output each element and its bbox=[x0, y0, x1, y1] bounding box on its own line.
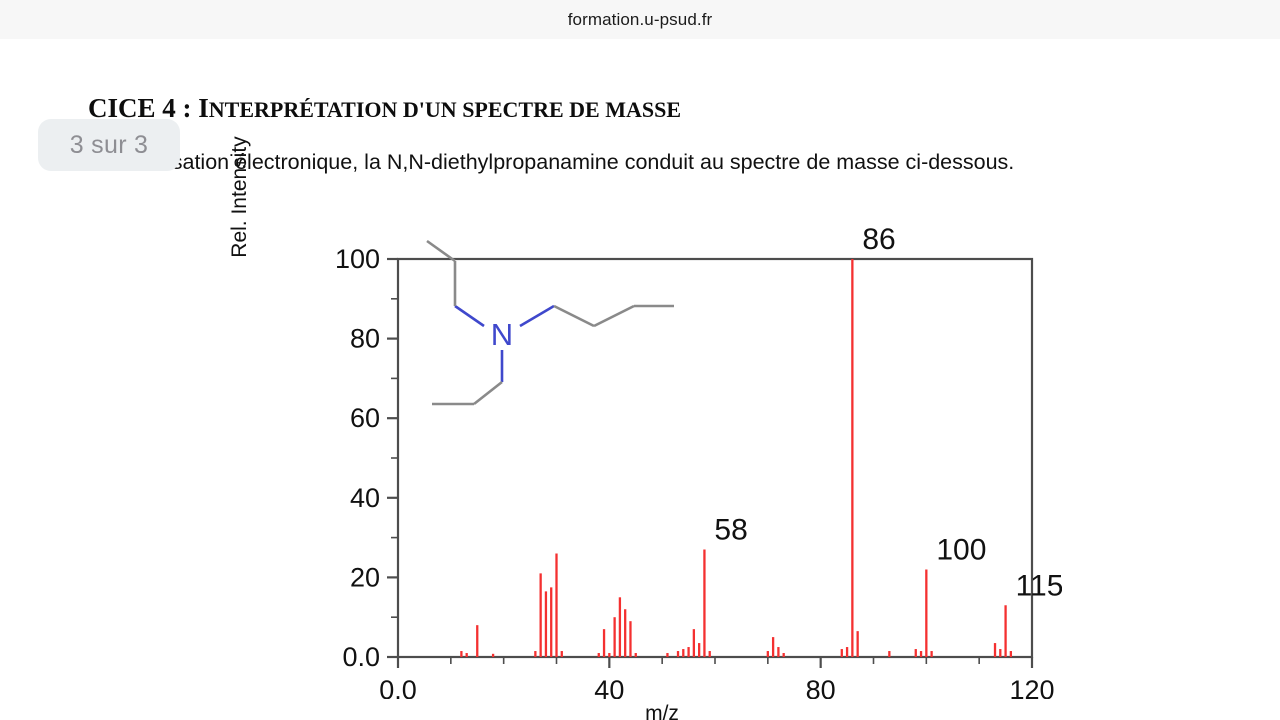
y-tick-label: 80 bbox=[350, 324, 380, 354]
peak-group bbox=[461, 259, 1010, 657]
peak-label: 100 bbox=[936, 533, 986, 566]
structure-bond bbox=[474, 382, 502, 404]
page-title-smallcaps: NTERPRÉTATION D'UN SPECTRE DE MASSE bbox=[209, 97, 681, 122]
peak-label: 115 bbox=[1016, 569, 1062, 602]
peak-label: 58 bbox=[714, 514, 747, 547]
spectrum-plot: 0.040801200.0204060801005886100115N bbox=[262, 199, 1062, 699]
y-tick-label: 40 bbox=[350, 483, 380, 513]
x-tick-label: 40 bbox=[594, 675, 624, 699]
x-axis-label: m/z bbox=[262, 702, 1062, 720]
browser-url-bar[interactable]: formation.u-psud.fr bbox=[0, 0, 1280, 40]
page-indicator-badge: 3 sur 3 bbox=[38, 119, 180, 171]
y-tick-label: 100 bbox=[335, 244, 380, 274]
intro-paragraph: En ionisation électronique, la N,N-dieth… bbox=[88, 143, 1200, 182]
page-indicator-label: 3 sur 3 bbox=[70, 131, 149, 160]
x-tick-label: 80 bbox=[806, 675, 836, 699]
peak-label: 86 bbox=[862, 223, 895, 256]
page-title: CICE 4 : INTERPRÉTATION D'UN SPECTRE DE … bbox=[88, 93, 681, 124]
structure-bond bbox=[554, 306, 594, 326]
y-tick-label: 60 bbox=[350, 403, 380, 433]
structure-bond bbox=[520, 306, 554, 326]
molecule-structure-inset: N bbox=[427, 241, 674, 404]
url-text: formation.u-psud.fr bbox=[568, 10, 713, 30]
y-tick-label: 0.0 bbox=[342, 642, 380, 672]
y-tick-label: 20 bbox=[350, 562, 380, 592]
screenshot-root: formation.u-psud.fr 3 sur 3 CICE 4 : INT… bbox=[0, 0, 1280, 720]
x-tick-label: 120 bbox=[1009, 675, 1054, 699]
document-page: 3 sur 3 CICE 4 : INTERPRÉTATION D'UN SPE… bbox=[0, 39, 1280, 720]
x-tick-label: 0.0 bbox=[379, 675, 417, 699]
structure-bond bbox=[594, 306, 634, 326]
structure-bond bbox=[455, 306, 484, 326]
nitrogen-atom-label: N bbox=[491, 317, 513, 352]
mass-spectrum-figure: Rel. Intensity m/z 0.040801200.020406080… bbox=[262, 199, 1062, 719]
